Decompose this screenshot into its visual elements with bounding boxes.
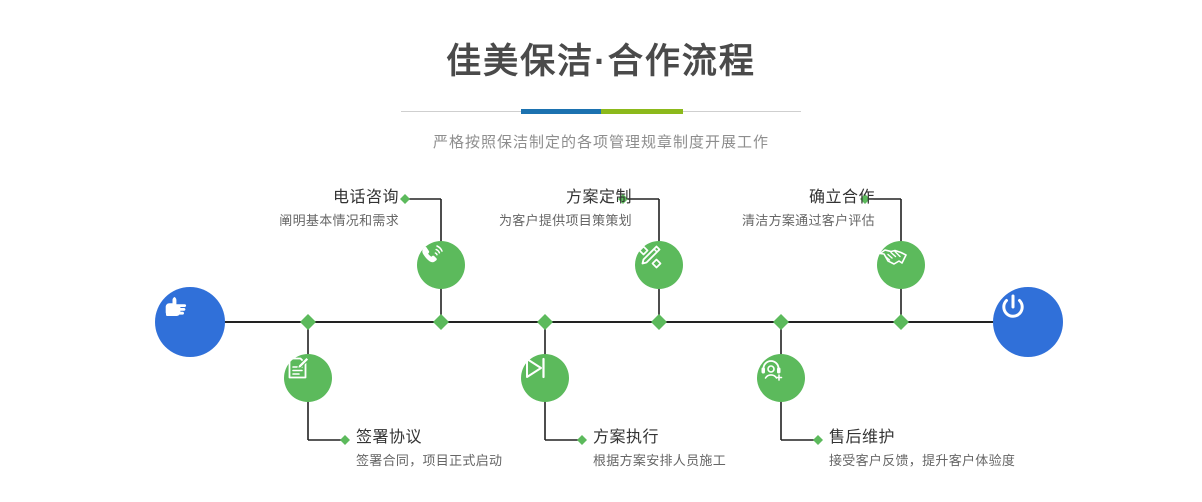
- step-desc-6: 接受客户反馈，提升客户体验度: [829, 452, 1015, 470]
- timeline-diamond-step-6: [773, 314, 789, 330]
- flow-finish-endpoint[interactable]: [993, 287, 1063, 357]
- timeline-diamond-step-2: [300, 314, 316, 330]
- play-skip-icon: [521, 354, 549, 382]
- label-diamond-step-2: [340, 435, 350, 445]
- handshake-icon: [877, 241, 909, 273]
- step-label-4: 方案执行 根据方案安排人员施工: [593, 429, 726, 470]
- flow-start-endpoint[interactable]: [155, 287, 225, 357]
- step-title-1: 电话咨询: [279, 189, 399, 207]
- step-label-6: 售后维护 接受客户反馈，提升客户体验度: [829, 429, 1015, 470]
- timeline-diamond-step-4: [537, 314, 553, 330]
- step-node-3[interactable]: [635, 241, 683, 289]
- document-edit-icon: [284, 354, 312, 382]
- step-desc-3: 为客户提供项目策策划: [499, 212, 632, 230]
- label-diamond-step-4: [577, 435, 587, 445]
- step-title-4: 方案执行: [593, 429, 726, 447]
- timeline-diamond-step-5: [893, 314, 909, 330]
- step-title-3: 方案定制: [499, 189, 632, 207]
- label-diamond-step-6: [813, 435, 823, 445]
- flow-diagram-page: 佳美保洁·合作流程 严格按照保洁制定的各项管理规章制度开展工作: [0, 0, 1202, 502]
- customer-support-icon: [757, 354, 787, 384]
- step-node-5[interactable]: [877, 241, 925, 289]
- step-desc-2: 签署合同，项目正式启动: [356, 452, 502, 470]
- step-node-1[interactable]: [417, 241, 465, 289]
- step-desc-1: 阐明基本情况和需求: [279, 212, 399, 230]
- step-node-2[interactable]: [284, 354, 332, 402]
- step-label-1: 电话咨询 阐明基本情况和需求: [279, 189, 399, 230]
- step-desc-5: 清洁方案通过客户评估: [742, 212, 875, 230]
- step-label-2: 签署协议 签署合同，项目正式启动: [356, 429, 502, 470]
- step-label-3: 方案定制 为客户提供项目策策划: [499, 189, 632, 230]
- phone-call-icon: [417, 241, 447, 271]
- pointing-hand-icon: [155, 287, 195, 327]
- timeline-diamond-step-1: [433, 314, 449, 330]
- timeline-diamond-step-3: [651, 314, 667, 330]
- flow-connectors: [0, 0, 1202, 502]
- step-title-6: 售后维护: [829, 429, 1015, 447]
- power-icon: [993, 287, 1033, 327]
- process-flow: 电话咨询 阐明基本情况和需求 签署协议 签署合同，项目正式启动: [0, 0, 1202, 502]
- step-node-4[interactable]: [521, 354, 569, 402]
- label-diamond-step-1: [400, 194, 410, 204]
- step-label-5: 确立合作 清洁方案通过客户评估: [742, 189, 875, 230]
- step-node-6[interactable]: [757, 354, 805, 402]
- step-desc-4: 根据方案安排人员施工: [593, 452, 726, 470]
- step-title-5: 确立合作: [742, 189, 875, 207]
- pencil-ruler-icon: [635, 241, 665, 271]
- step-title-2: 签署协议: [356, 429, 502, 447]
